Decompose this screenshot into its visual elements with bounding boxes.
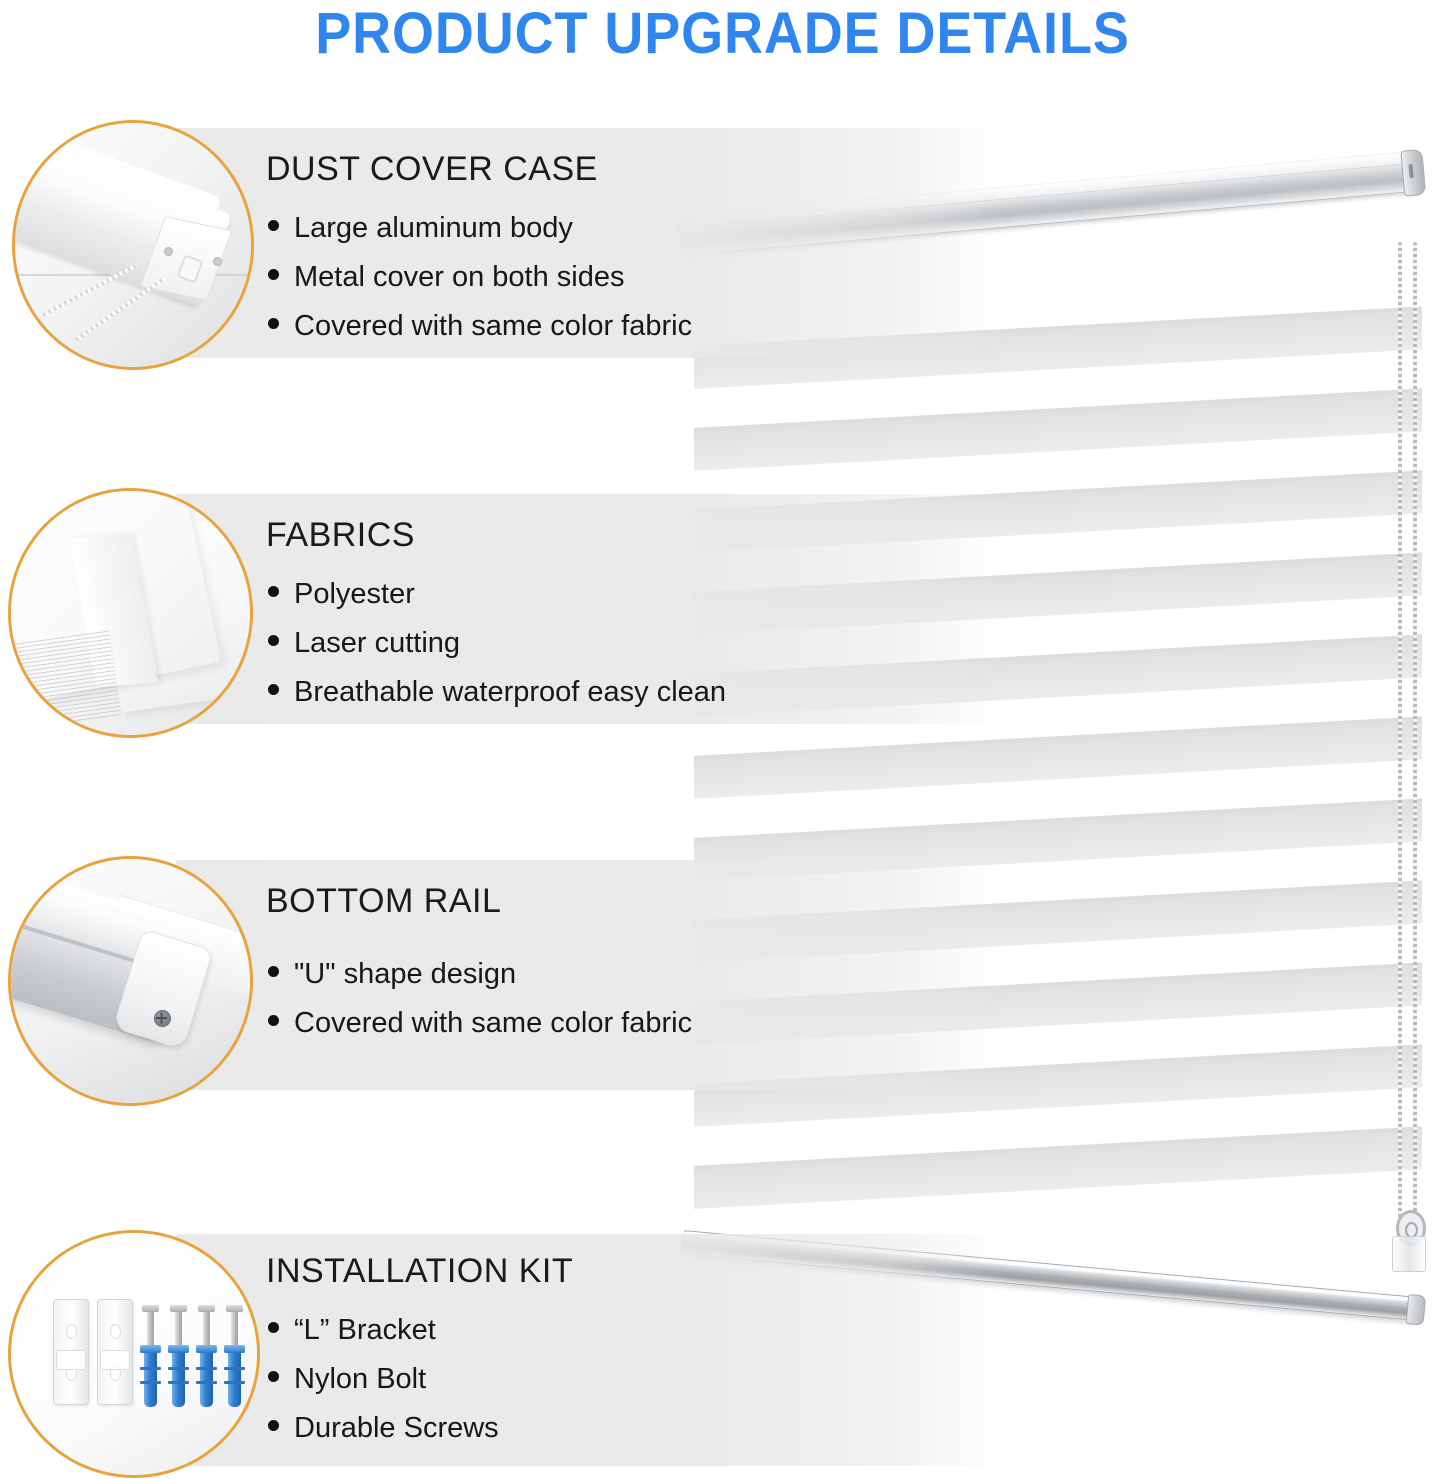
bullet-item: Laser cutting (268, 619, 726, 668)
bullet-text: “L” Bracket (294, 1306, 436, 1355)
panel-installation-kit: INSTALLATION KIT “L” Bracket Nylon Bolt … (176, 1234, 1006, 1466)
fabric-stripe (694, 389, 1422, 473)
installation-kit-photo (8, 1230, 260, 1478)
bullet-item: Nylon Bolt (268, 1355, 499, 1404)
screw-head (142, 1305, 159, 1312)
photo-inner (11, 491, 250, 735)
bottom-rail-photo (8, 856, 253, 1106)
bullet-text: Covered with same color fabric (294, 999, 692, 1048)
fabric-stripe (694, 1127, 1422, 1211)
bullet-item: Metal cover on both sides (268, 253, 692, 302)
photo-inner (11, 859, 250, 1103)
bottom-rail-end-cap (1406, 1294, 1427, 1326)
bullet-list-fabrics: Polyester Laser cutting Breathable water… (268, 570, 726, 717)
bullet-dot-icon (268, 1420, 279, 1431)
nylon-bolt-icon (144, 1345, 157, 1407)
headrail-chain-slot (1409, 164, 1414, 178)
dust-cover-case-photo (12, 120, 254, 370)
bullet-item: Large aluminum body (268, 204, 692, 253)
bullet-dot-icon (268, 318, 279, 329)
nylon-bolt-icon (172, 1345, 185, 1407)
bracket-tab (100, 1350, 130, 1370)
anchor-cap (224, 1345, 245, 1353)
bullet-dot-icon (268, 1371, 279, 1382)
photo-background (11, 1233, 257, 1475)
bullet-text: Covered with same color fabric (294, 302, 692, 351)
chain-tensioner (1392, 1210, 1424, 1272)
fabric-stripe (694, 717, 1422, 801)
anchor-fin (168, 1367, 189, 1370)
bullet-text: Nylon Bolt (294, 1355, 426, 1404)
section-heading-dust-cover-case: DUST COVER CASE (266, 150, 598, 189)
tensioner-tube (1392, 1236, 1426, 1272)
bullet-list-bottom-rail: "U" shape design Covered with same color… (268, 950, 692, 1048)
page-title: PRODUCT UPGRADE DETAILS (51, 2, 1395, 66)
anchor-cap (168, 1345, 189, 1353)
bullet-list-dust-cover-case: Large aluminum body Metal cover on both … (268, 204, 692, 351)
bullet-dot-icon (268, 586, 279, 597)
bead-chain-left-strand (1398, 242, 1402, 1227)
l-bracket-icon (53, 1299, 89, 1405)
bracket-tab (56, 1350, 86, 1370)
bullet-dot-icon (268, 1015, 279, 1026)
l-bracket-icon (97, 1299, 133, 1405)
bullet-item: "U" shape design (268, 950, 692, 999)
bullet-text: Breathable waterproof easy clean (294, 668, 726, 717)
bullet-item: “L” Bracket (268, 1306, 499, 1355)
section-heading-fabrics: FABRICS (266, 516, 415, 555)
nylon-bolt-icon (228, 1345, 241, 1407)
panel-fabrics: FABRICS Polyester Laser cutting Breathab… (176, 494, 1006, 724)
panel-bottom-rail: BOTTOM RAIL "U" shape design Covered wit… (176, 860, 1006, 1090)
panel-dust-cover-case: DUST COVER CASE Large aluminum body Meta… (176, 128, 1006, 358)
fabrics-photo (8, 488, 253, 738)
anchor-cap (196, 1345, 217, 1353)
bullet-text: Laser cutting (294, 619, 460, 668)
headrail-end-cap (1400, 149, 1426, 197)
bullet-text: Large aluminum body (294, 204, 573, 253)
bullet-dot-icon (268, 269, 279, 280)
bead-chain-right-strand (1413, 242, 1417, 1227)
bullet-dot-icon (268, 1322, 279, 1333)
screw-head (170, 1305, 187, 1312)
bullet-item: Covered with same color fabric (268, 999, 692, 1048)
nylon-bolt-icon (200, 1345, 213, 1407)
screw-head (198, 1305, 215, 1312)
bullet-item: Durable Screws (268, 1404, 499, 1453)
bullet-item: Breathable waterproof easy clean (268, 668, 726, 717)
section-heading-installation-kit: INSTALLATION KIT (266, 1252, 573, 1291)
anchor-fin (224, 1381, 245, 1384)
section-heading-bottom-rail: BOTTOM RAIL (266, 882, 501, 921)
bead-chain (1392, 242, 1428, 1287)
anchor-fin (140, 1367, 161, 1370)
bullet-text: Polyester (294, 570, 415, 619)
bullet-dot-icon (268, 684, 279, 695)
bracket-hole (110, 1324, 121, 1339)
sheer-mesh-detail (11, 631, 122, 732)
photo-inner (11, 1233, 257, 1475)
bullet-text: Metal cover on both sides (294, 253, 624, 302)
photo-inner (15, 123, 251, 367)
bullet-dot-icon (268, 220, 279, 231)
bullet-dot-icon (268, 635, 279, 646)
anchor-fin (168, 1381, 189, 1384)
zebra-fabric (694, 265, 1422, 1340)
product-image (676, 190, 1445, 1340)
bullet-text: Durable Screws (294, 1404, 499, 1453)
anchor-fin (140, 1381, 161, 1384)
anchor-fin (224, 1367, 245, 1370)
infographic-canvas: PRODUCT UPGRADE DETAILS DUST COVER C (0, 0, 1445, 1479)
bracket-hole (66, 1324, 77, 1339)
bullet-list-installation-kit: “L” Bracket Nylon Bolt Durable Screws (268, 1306, 499, 1453)
anchor-fin (196, 1381, 217, 1384)
anchor-cap (140, 1345, 161, 1353)
screw-head (226, 1305, 243, 1312)
bullet-item: Polyester (268, 570, 726, 619)
anchor-fin (196, 1367, 217, 1370)
bullet-text: "U" shape design (294, 950, 516, 999)
bullet-item: Covered with same color fabric (268, 302, 692, 351)
bullet-dot-icon (268, 966, 279, 977)
